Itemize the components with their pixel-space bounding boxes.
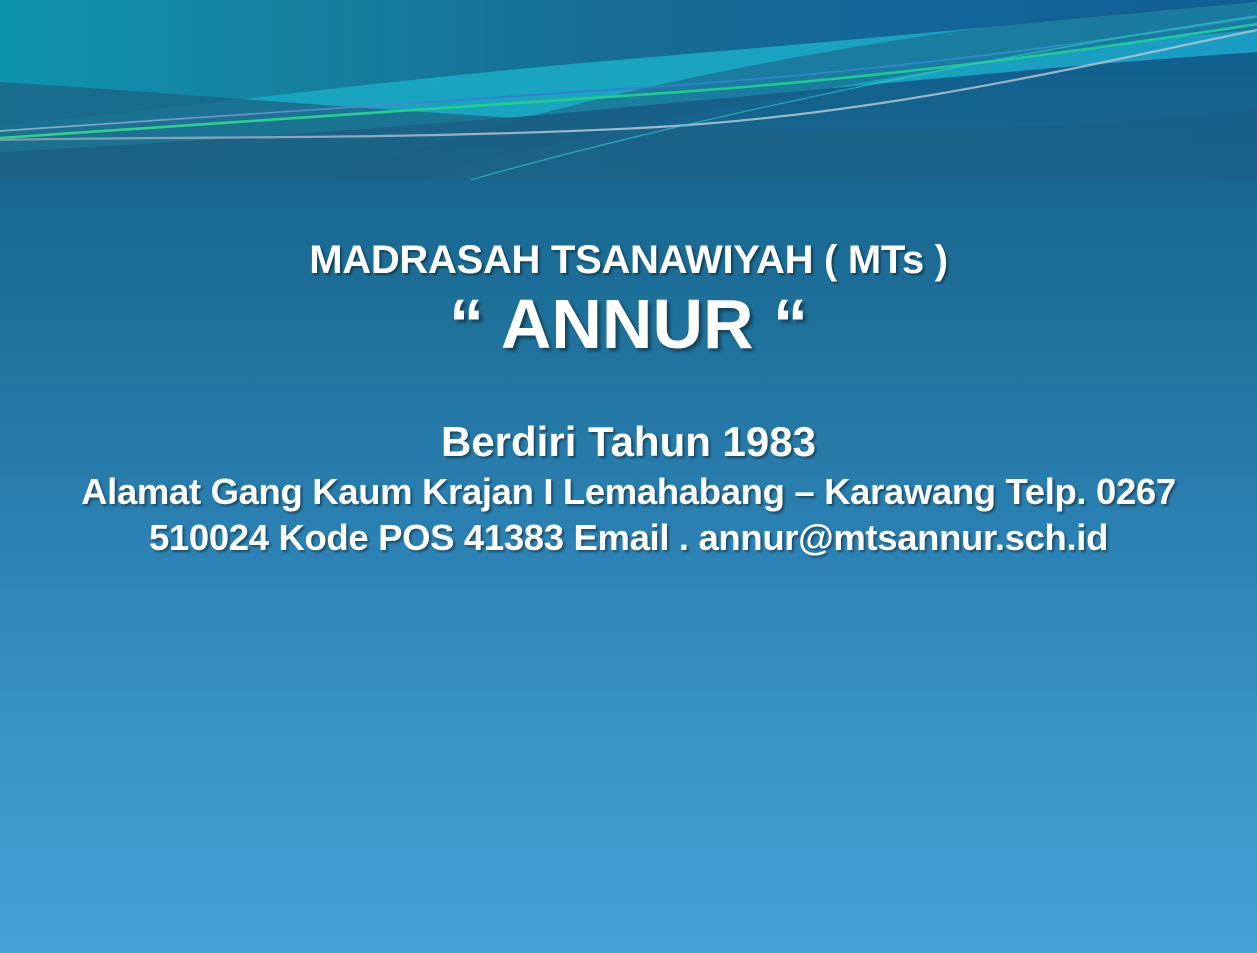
organization-title: MADRASAH TSANAWIYAH ( MTs ) bbox=[40, 240, 1217, 280]
slide-subtitle: Berdiri Tahun 1983 Alamat Gang Kaum Kraj… bbox=[24, 418, 1233, 562]
title-slide: MADRASAH TSANAWIYAH ( MTs ) “ ANNUR “ Be… bbox=[0, 0, 1257, 953]
school-name-title: “ ANNUR “ bbox=[40, 288, 1217, 362]
founded-year-text: Berdiri Tahun 1983 bbox=[24, 418, 1233, 465]
slide-title: MADRASAH TSANAWIYAH ( MTs ) “ ANNUR “ bbox=[40, 240, 1217, 362]
address-contact-text: Alamat Gang Kaum Krajan I Lemahabang – K… bbox=[24, 469, 1233, 562]
flow-wave-decoration bbox=[0, 0, 1257, 180]
